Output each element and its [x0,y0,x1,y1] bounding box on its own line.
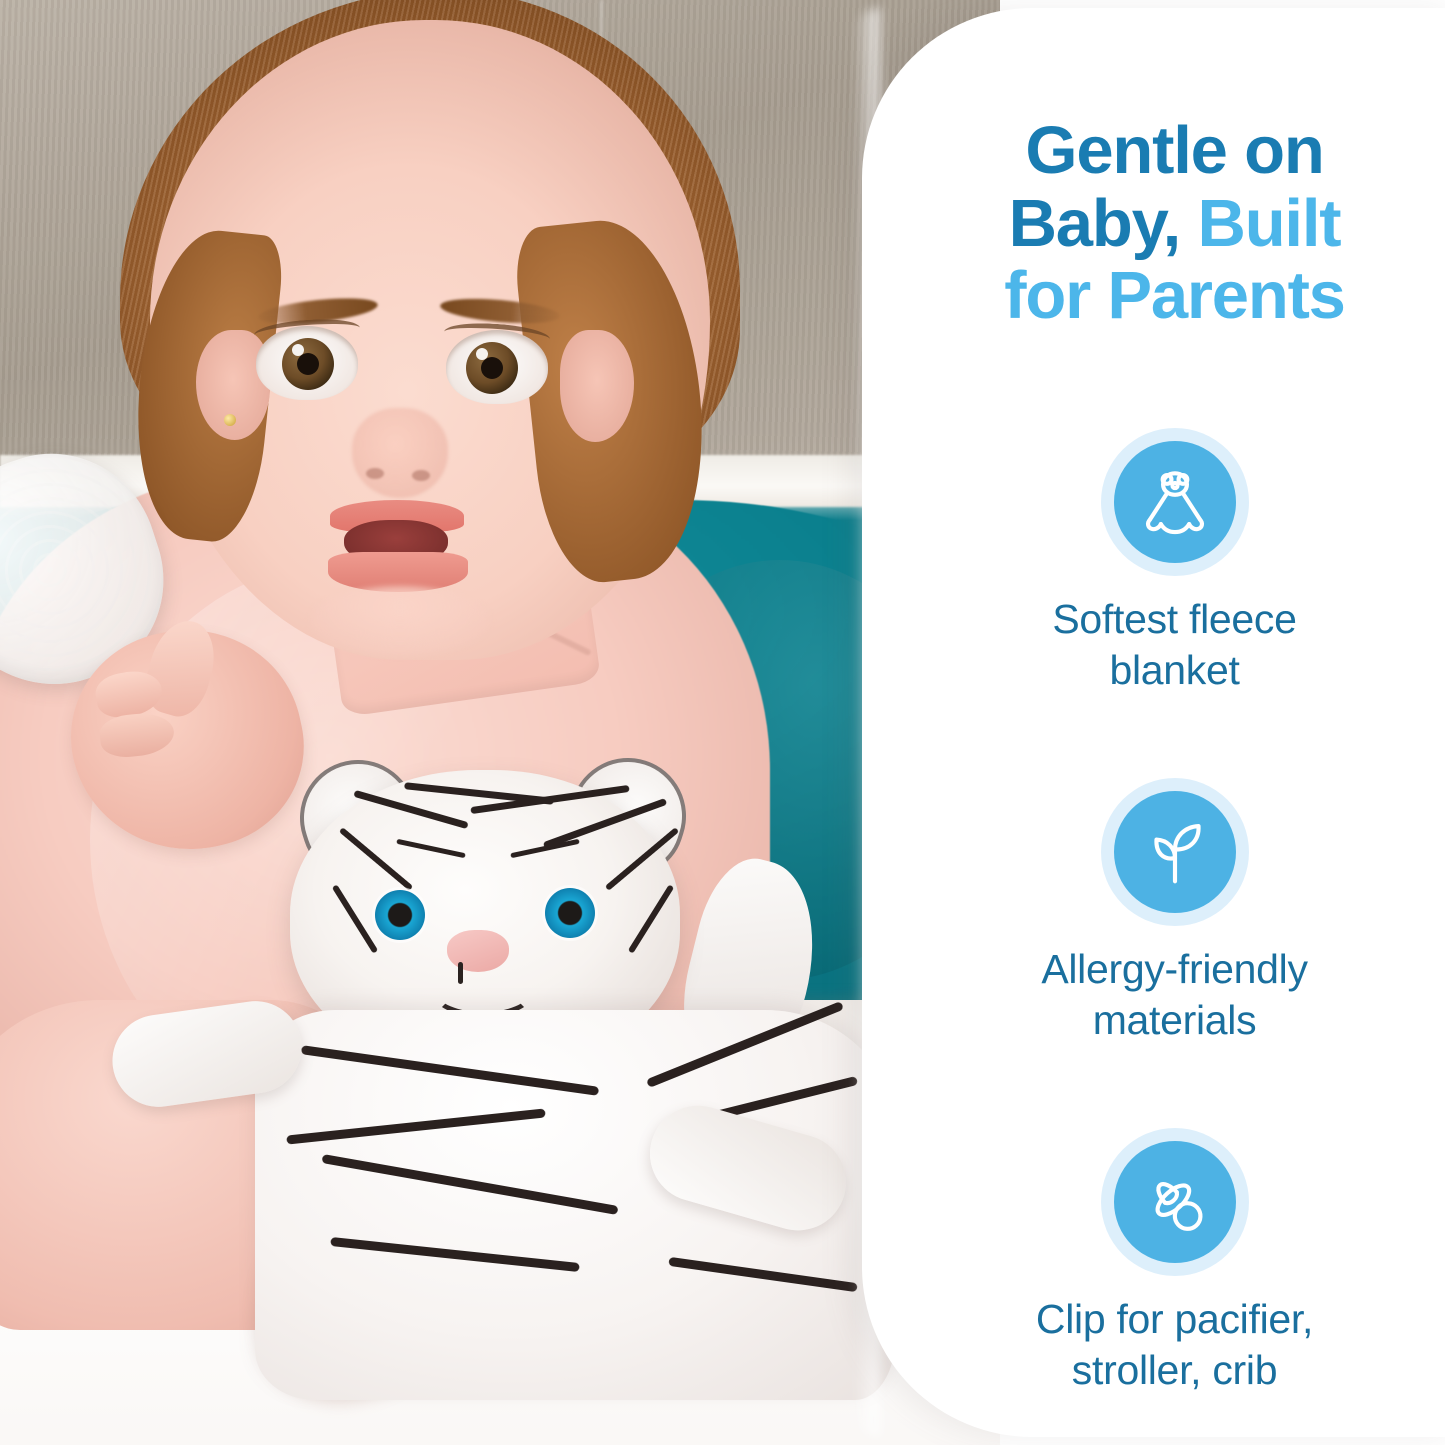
baby-nostril-left [366,468,384,479]
tiger-nose [447,930,509,972]
headline-line-3: for Parents [1004,258,1345,333]
feature-label-line-1: Softest fleece [1052,596,1296,642]
feature-label: Softest fleece blanket [902,594,1445,696]
headline-line-2-light: Built [1198,186,1341,261]
headline-line-1: Gentle on [1025,113,1323,188]
tiger-eye-right [545,888,595,938]
pacifier-icon [1114,1141,1236,1263]
product-feature-image: Gentle on Baby, Built for Parents [0,0,1445,1445]
tiger-eye-left [375,890,425,940]
baby-pupil-right [481,357,503,379]
feature-label: Clip for pacifier, stroller, crib [902,1294,1445,1396]
page-title: Gentle on Baby, Built for Parents [902,115,1445,333]
feature-label-line-2: blanket [1109,647,1239,693]
product-lifestyle-photo [0,0,1000,1445]
feature-panel: Gentle on Baby, Built for Parents [862,8,1445,1437]
icon-halo [1101,778,1249,926]
headline-line-2-dark: Baby, [1009,186,1180,261]
baby-eye-glint-right [476,348,488,360]
feature-label-line-1: Allergy-friendly [1041,946,1307,992]
baby-eye-glint-left [292,344,304,356]
baby-chin [310,586,490,656]
baby-earring [224,414,236,426]
feature-item-allergy-friendly-materials: Allergy-friendly materials [902,778,1445,1046]
feature-label-line-2: materials [1093,997,1257,1043]
baby-blanket-icon [1114,441,1236,563]
feature-item-softest-fleece-blanket: Softest fleece blanket [902,428,1445,696]
feature-label: Allergy-friendly materials [902,944,1445,1046]
sprout-leaves-icon [1114,791,1236,913]
baby-nostril-right [412,470,430,481]
feature-label-line-2: stroller, crib [1072,1347,1277,1393]
feature-label-line-1: Clip for pacifier, [1036,1296,1313,1342]
baby-nose [352,408,448,498]
feature-item-clip-for-pacifier: Clip for pacifier, stroller, crib [902,1128,1445,1396]
icon-halo [1101,1128,1249,1276]
baby-pupil-left [297,353,319,375]
icon-halo [1101,428,1249,576]
